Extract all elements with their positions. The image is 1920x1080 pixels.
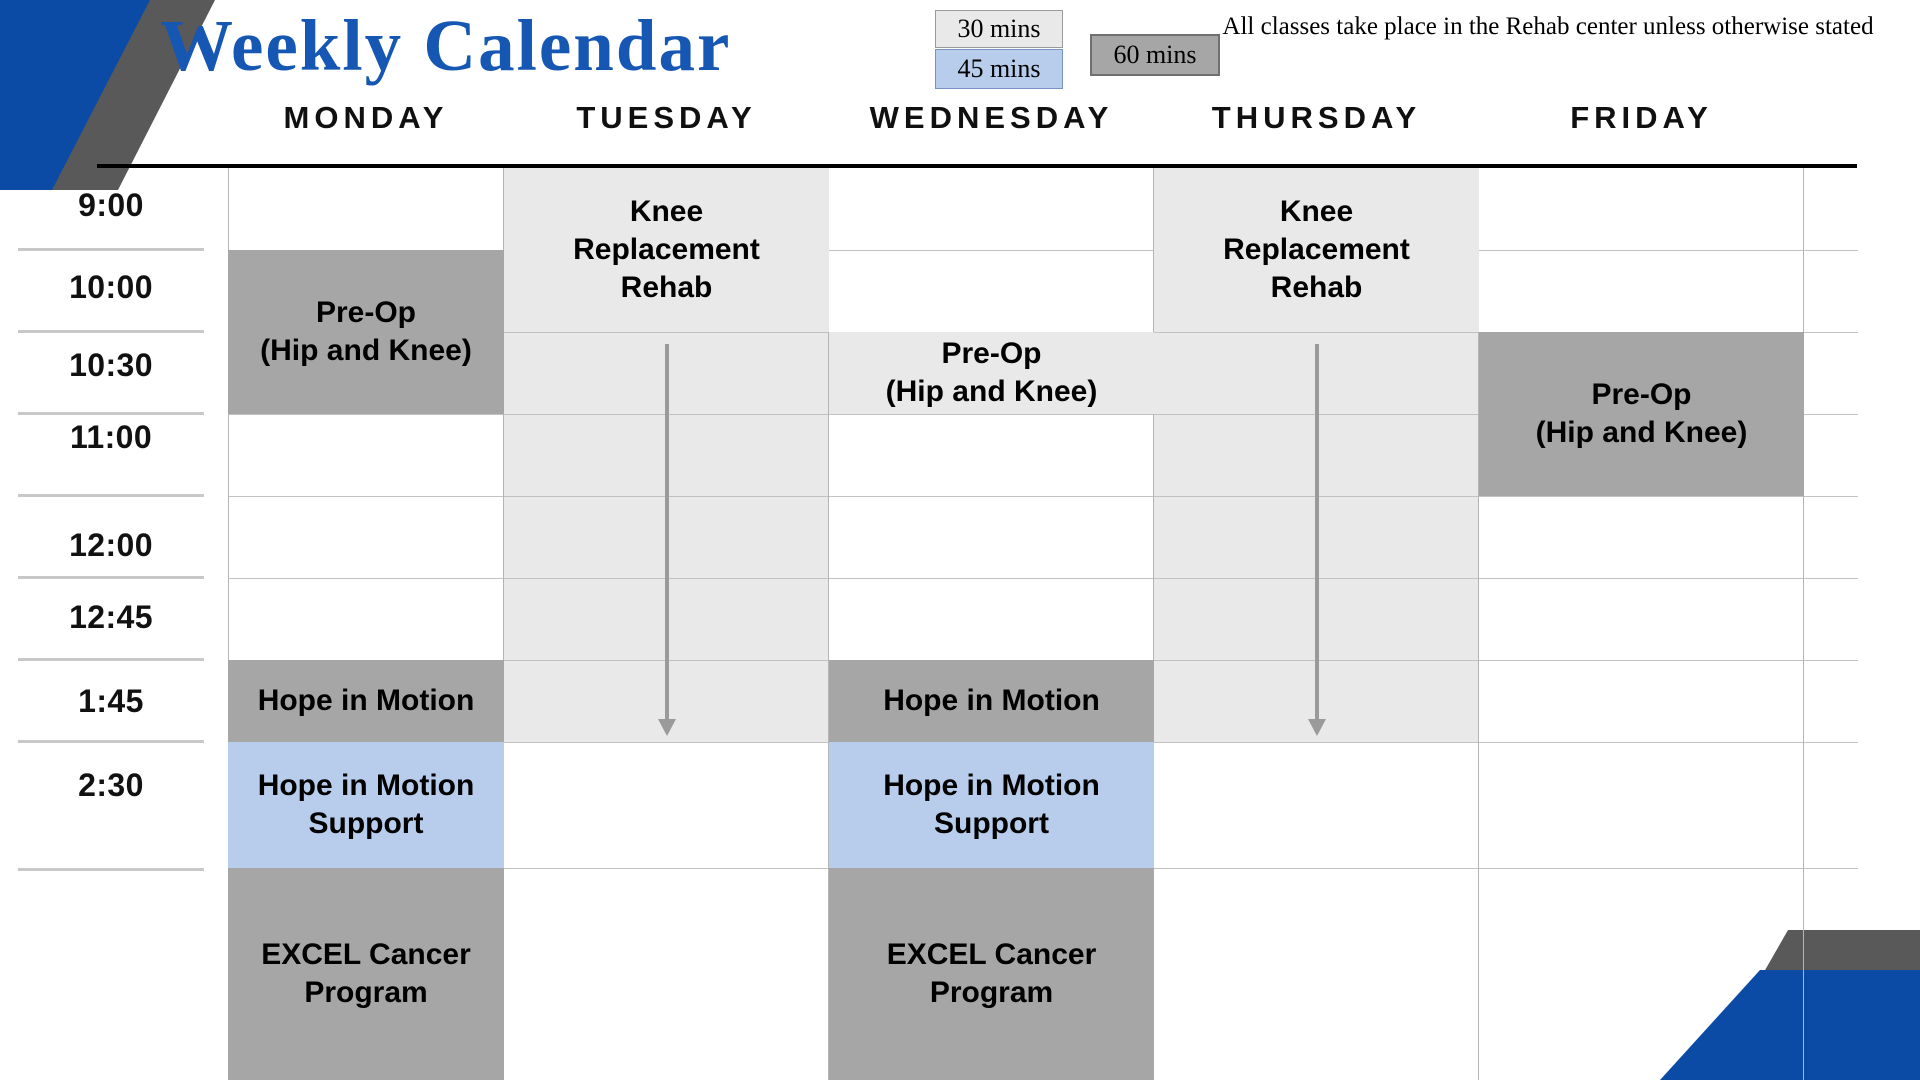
time-label-10-00: 10:00: [18, 269, 204, 306]
event-wednesday-hope-in-motion-support[interactable]: Hope in MotionSupport: [829, 742, 1154, 868]
event-wednesday-pre-op-hip-and-knee[interactable]: Pre-Op(Hip and Knee): [829, 332, 1154, 414]
time-label-11-00: 11:00: [18, 419, 204, 456]
event-title: Hope in Motion: [258, 682, 475, 720]
event-title: Pre-Op(Hip and Knee): [260, 294, 472, 370]
time-divider: [18, 658, 204, 661]
time-divider: [18, 740, 204, 743]
time-divider: [18, 248, 204, 251]
time-divider: [18, 868, 204, 871]
time-label-12-00: 12:00: [18, 527, 204, 564]
day-header-row: MONDAYTUESDAYWEDNESDAYTHURSDAYFRIDAY: [0, 100, 1920, 144]
time-column: 9:0010:0010:3011:0012:0012:451:452:30: [0, 168, 228, 1080]
event-monday-hope-in-motion-support[interactable]: Hope in MotionSupport: [228, 742, 504, 868]
day-header-friday: FRIDAY: [1479, 100, 1804, 136]
page-title: Weekly Calendar: [160, 4, 731, 88]
time-divider: [18, 330, 204, 333]
day-header-thursday: THURSDAY: [1154, 100, 1479, 136]
time-label-2-30: 2:30: [18, 767, 204, 804]
legend-label-30-mins: 30 mins: [957, 14, 1040, 44]
time-divider: [18, 576, 204, 579]
legend-chip-60-mins: 60 mins: [1090, 34, 1220, 76]
time-divider: [18, 412, 204, 415]
event-title: Hope in Motion: [883, 682, 1100, 720]
event-title: KneeReplacementRehab: [1223, 193, 1410, 306]
event-thursday-knee-replacement-rehab[interactable]: KneeReplacementRehab: [1154, 168, 1479, 332]
event-title: KneeReplacementRehab: [573, 193, 760, 306]
continuation-down-arrow-icon: [652, 344, 682, 736]
continuation-down-arrow-icon: [1302, 344, 1332, 736]
calendar-grid: Pre-Op(Hip and Knee)Hope in MotionHope i…: [228, 168, 1858, 1080]
legend-label-60-mins: 60 mins: [1113, 40, 1196, 70]
time-divider: [18, 494, 204, 497]
time-label-9-00: 9:00: [18, 187, 204, 224]
calendar-note: All classes take place in the Rehab cent…: [1218, 10, 1878, 44]
time-label-1-45: 1:45: [18, 683, 204, 720]
event-title: Pre-Op(Hip and Knee): [886, 335, 1098, 411]
event-title: Hope in MotionSupport: [883, 767, 1100, 843]
time-label-12-45: 12:45: [18, 599, 204, 636]
event-friday-pre-op-hip-and-knee[interactable]: Pre-Op(Hip and Knee): [1479, 332, 1804, 496]
event-title: Pre-Op(Hip and Knee): [1536, 376, 1748, 452]
event-tuesday-knee-replacement-rehab[interactable]: KneeReplacementRehab: [504, 168, 829, 332]
event-title: EXCEL CancerProgram: [261, 936, 471, 1012]
event-title: Hope in MotionSupport: [258, 767, 475, 843]
legend-chip-45-mins: 45 mins: [935, 49, 1063, 89]
day-header-tuesday: TUESDAY: [504, 100, 829, 136]
event-wednesday-hope-in-motion[interactable]: Hope in Motion: [829, 660, 1154, 742]
day-header-monday: MONDAY: [228, 100, 504, 136]
time-label-10-30: 10:30: [18, 347, 204, 384]
legend-label-45-mins: 45 mins: [957, 54, 1040, 84]
day-column-friday: [1479, 168, 1804, 1080]
event-monday-excel-cancer-program[interactable]: EXCEL CancerProgram: [228, 868, 504, 1080]
event-wednesday-excel-cancer-program[interactable]: EXCEL CancerProgram: [829, 868, 1154, 1080]
day-header-wednesday: WEDNESDAY: [829, 100, 1154, 136]
legend-chip-30-mins: 30 mins: [935, 10, 1063, 48]
event-monday-pre-op-hip-and-knee[interactable]: Pre-Op(Hip and Knee): [228, 250, 504, 414]
event-title: EXCEL CancerProgram: [887, 936, 1097, 1012]
grid-top-rule: [97, 164, 1857, 168]
event-monday-hope-in-motion[interactable]: Hope in Motion: [228, 660, 504, 742]
